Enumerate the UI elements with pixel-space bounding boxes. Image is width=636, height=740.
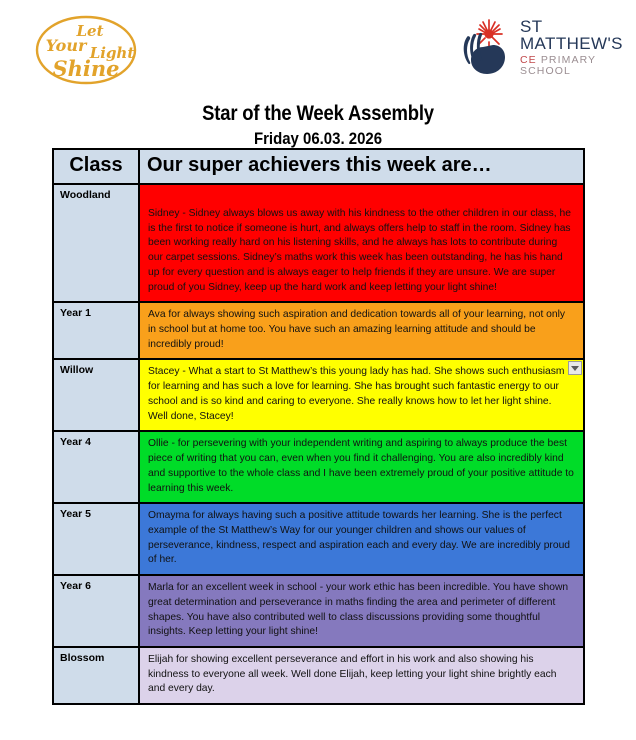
table-row: Year 6Marla for an excellent week in sch… [53,575,584,647]
class-name-cell: Woodland [53,184,139,302]
column-header-achievers: Our super achievers this week are… [139,149,584,184]
table-row: WoodlandSidney - Sidney always blows us … [53,184,584,302]
column-header-class-label: Class [54,150,138,183]
class-name-cell: Year 4 [53,431,139,503]
class-name-label: Willow [54,360,138,376]
table-row: Year 5Omayma for always having such a po… [53,503,584,575]
school-subtitle: CE PRIMARY SCHOOL [520,55,626,76]
shine-logo-line4: Shine [52,56,119,81]
achiever-citation-text: Stacey - What a start to St Matthew’s th… [140,360,583,430]
table-row: WillowStacey - What a start to St Matthe… [53,359,584,431]
table-row: BlossomElijah for showing excellent pers… [53,647,584,704]
chevron-down-glyph [571,366,579,371]
class-name-cell: Willow [53,359,139,431]
class-name-cell: Blossom [53,647,139,704]
page-title: Star of the Week Assembly [38,102,598,126]
class-name-label: Year 6 [54,576,138,592]
achiever-citation-text: Sidney - Sidney always blows us away wit… [140,185,583,301]
achiever-citation-text: Marla for an excellent week in school - … [140,576,583,646]
class-name-cell: Year 6 [53,575,139,647]
class-name-label: Blossom [54,648,138,664]
st-matthews-logo: ST MATTHEW'S CE PRIMARY SCHOOL [458,14,626,80]
achiever-citation-text: Omayma for always having such a positive… [140,504,583,574]
let-your-light-shine-logo: Let Your Light Shine [30,8,142,92]
achiever-citation-cell: Sidney - Sidney always blows us away wit… [139,184,584,302]
achiever-citation-cell: Elijah for showing excellent perseveranc… [139,647,584,704]
achiever-citation-cell: Omayma for always having such a positive… [139,503,584,575]
star-of-the-week-table: Class Our super achievers this week are…… [52,148,585,705]
class-name-label: Woodland [54,185,138,201]
achiever-citation-text: Ava for always showing such aspiration a… [140,303,583,358]
table-header-row: Class Our super achievers this week are… [53,149,584,184]
table-body: WoodlandSidney - Sidney always blows us … [53,184,584,704]
header-logo-band: Let Your Light Shine [0,0,636,96]
achiever-citation-text: Ollie - for persevering with your indepe… [140,432,583,502]
achiever-citation-cell: Stacey - What a start to St Matthew’s th… [139,359,584,431]
chevron-down-icon[interactable] [568,361,582,375]
class-name-cell: Year 1 [53,302,139,359]
achiever-citation-cell: Ollie - for persevering with your indepe… [139,431,584,503]
class-name-label: Year 4 [54,432,138,448]
class-name-label: Year 1 [54,303,138,319]
title-block: Star of the Week Assembly Friday 06.03. … [0,102,636,149]
class-name-label: Year 5 [54,504,138,520]
achiever-citation-text: Elijah for showing excellent perseveranc… [140,648,583,703]
table-row: Year 1Ava for always showing such aspira… [53,302,584,359]
class-name-cell: Year 5 [53,503,139,575]
shine-logo-line2: Your [46,36,88,55]
achiever-citation-cell: Marla for an excellent week in school - … [139,575,584,647]
column-header-class: Class [53,149,139,184]
star-of-the-week-table-wrapper: Class Our super achievers this week are…… [52,148,583,705]
hand-and-star-icon [458,17,514,77]
school-name: ST MATTHEW'S [520,18,626,52]
table-row: Year 4Ollie - for persevering with your … [53,431,584,503]
achiever-citation-cell: Ava for always showing such aspiration a… [139,302,584,359]
column-header-achievers-label: Our super achievers this week are… [140,150,583,183]
assembly-date: Friday 06.03. 2026 [38,129,598,149]
